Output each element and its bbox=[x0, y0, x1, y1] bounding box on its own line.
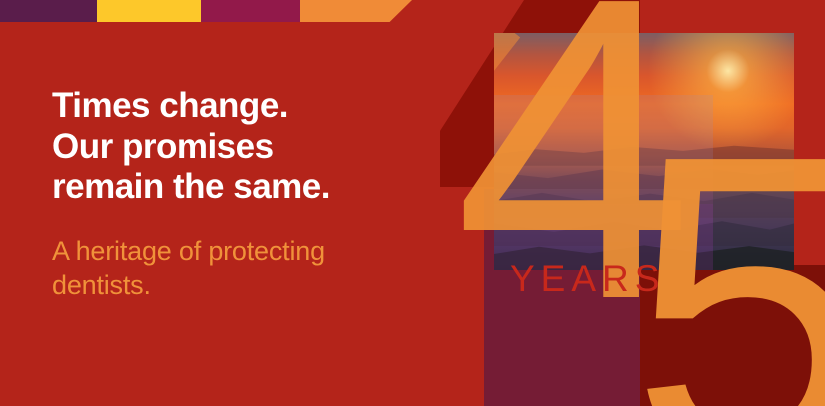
subheadline: A heritage of protecting dentists. bbox=[52, 234, 442, 302]
copy-block: Times change. Our promises remain the sa… bbox=[52, 86, 442, 302]
years-label: YEARS bbox=[510, 258, 665, 300]
headline: Times change. Our promises remain the sa… bbox=[52, 86, 442, 208]
top-color-bar-purple bbox=[0, 0, 97, 22]
top-color-bar-orange bbox=[300, 0, 412, 22]
anniversary-banner: Times change. Our promises remain the sa… bbox=[0, 0, 825, 406]
top-color-bar-crimson bbox=[201, 0, 300, 22]
top-color-bar-yellow bbox=[97, 0, 201, 22]
anniversary-digit-5: 5 bbox=[630, 92, 825, 406]
anniversary-artwork: 4 5 YEARS bbox=[440, 0, 825, 406]
